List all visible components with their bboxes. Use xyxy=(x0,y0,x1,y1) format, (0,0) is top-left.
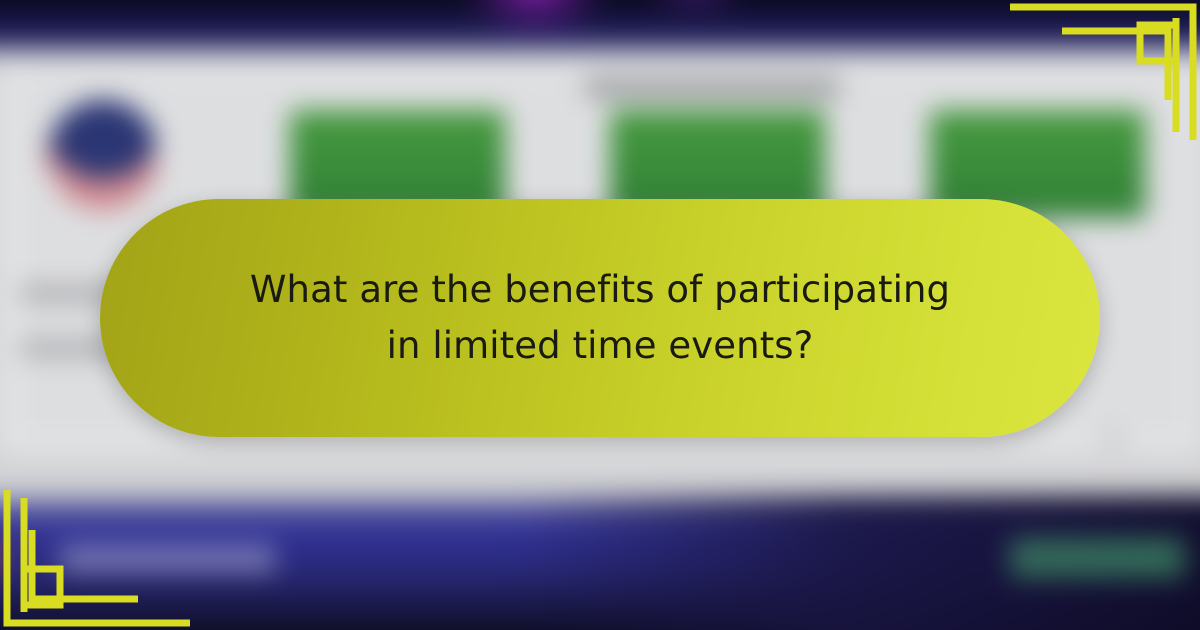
purple-glow xyxy=(460,0,610,40)
footer-avatar-placeholder xyxy=(1100,430,1126,448)
question-overlay-pill: What are the benefits of participating i… xyxy=(100,199,1100,437)
purple-glow-secondary xyxy=(640,0,750,20)
site-logo-icon xyxy=(48,100,158,210)
screenshot-canvas: What are the benefits of participating i… xyxy=(0,0,1200,630)
question-text: What are the benefits of participating i… xyxy=(230,262,970,374)
corner-ornament-bottom-left xyxy=(0,490,210,630)
card-heading-placeholder xyxy=(585,78,840,97)
bottom-cta-button-placeholder xyxy=(1010,538,1185,578)
corner-ornament-top-right xyxy=(990,0,1200,140)
